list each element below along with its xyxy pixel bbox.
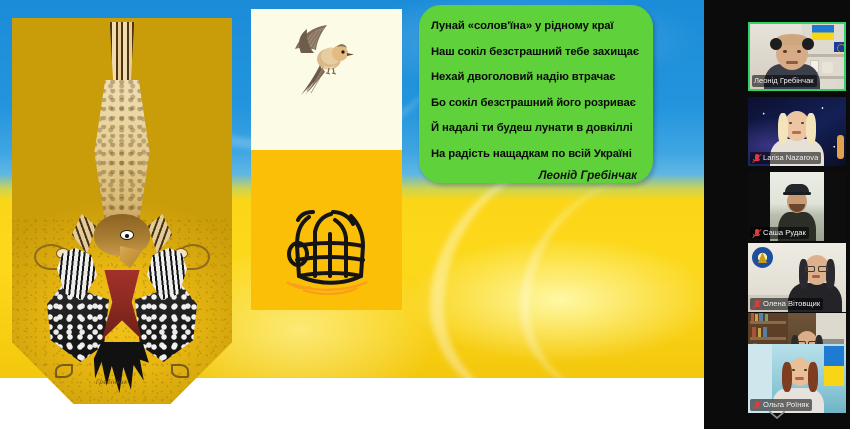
eagle-right-foot: [171, 364, 189, 378]
coat-of-arms-plate: Гребінчак: [12, 18, 232, 404]
participant-tile-1[interactable]: Леонід Гребінчак: [748, 22, 846, 91]
artwork-signature: Гребінчак: [96, 380, 127, 386]
eu-flag-prop: [834, 42, 846, 52]
tile-1-namebar: Леонід Гребінчак: [752, 75, 817, 87]
mic-muted-icon: [752, 401, 761, 410]
tile-4-name: Олена Вітовщик: [763, 298, 820, 310]
poem-line-2: Наш сокіл безстрашний тебе захищає: [431, 40, 641, 66]
poem-line-6: На радість нащадкам по всій Україні: [431, 142, 641, 168]
poem-callout: Лунай «солов'їна» у рідному краї Наш сок…: [419, 5, 653, 183]
mic-muted-icon: [752, 300, 761, 309]
ukraine-flag-prop: [824, 346, 844, 386]
flying-sparrow-icon: [287, 23, 357, 105]
scroll-down-chevron-icon[interactable]: [768, 409, 786, 421]
open-birdcage-icon: [273, 172, 385, 297]
participant-tile-2[interactable]: Larisa Nazarova: [748, 97, 846, 166]
poem-line-5: Й надалі ти будеш лунати в довкіллі: [431, 116, 641, 142]
tile-3-name: Саша Рудак: [763, 227, 806, 239]
participant-filmstrip[interactable]: Леонід Гребінчак Larisa Nazarova: [704, 0, 850, 429]
falcon-eye: [120, 230, 134, 240]
eagle-tail: [90, 342, 154, 394]
poem-line-3: Нехай двоголовий надію втрачає: [431, 65, 641, 91]
ukraine-flag-prop: [812, 25, 834, 40]
mic-muted-icon: [752, 229, 761, 238]
poem-line-1: Лунай «солов'їна» у рідному краї: [431, 14, 641, 40]
participant-tile-3[interactable]: Саша Рудак: [748, 172, 846, 241]
participant-tile-6[interactable]: Ольга Роїняк: [748, 344, 846, 413]
shared-screen-slide[interactable]: Гребінчак: [0, 0, 704, 429]
tile-3-namebar: Саша Рудак: [750, 227, 809, 239]
tile-1-name: Леонід Гребінчак: [754, 75, 814, 87]
poem-line-4: Бо сокіл безстрашний його розриває: [431, 91, 641, 117]
bird-and-cage-panel: [251, 9, 402, 310]
mic-muted-icon: [752, 154, 761, 163]
poem-author: Леонід Гребінчак: [431, 167, 641, 182]
double-headed-eagle: [47, 246, 197, 396]
tile-2-namebar: Larisa Nazarova: [750, 152, 821, 164]
eagle-left-foot: [55, 364, 73, 378]
participant-tile-4[interactable]: Олена Вітовщик: [748, 243, 846, 312]
conference-screen: Гребінчак: [0, 0, 850, 429]
organization-emblem-icon: [751, 246, 774, 269]
tile-4-namebar: Олена Вітовщик: [750, 298, 823, 310]
tile-2-name: Larisa Nazarova: [763, 152, 818, 164]
